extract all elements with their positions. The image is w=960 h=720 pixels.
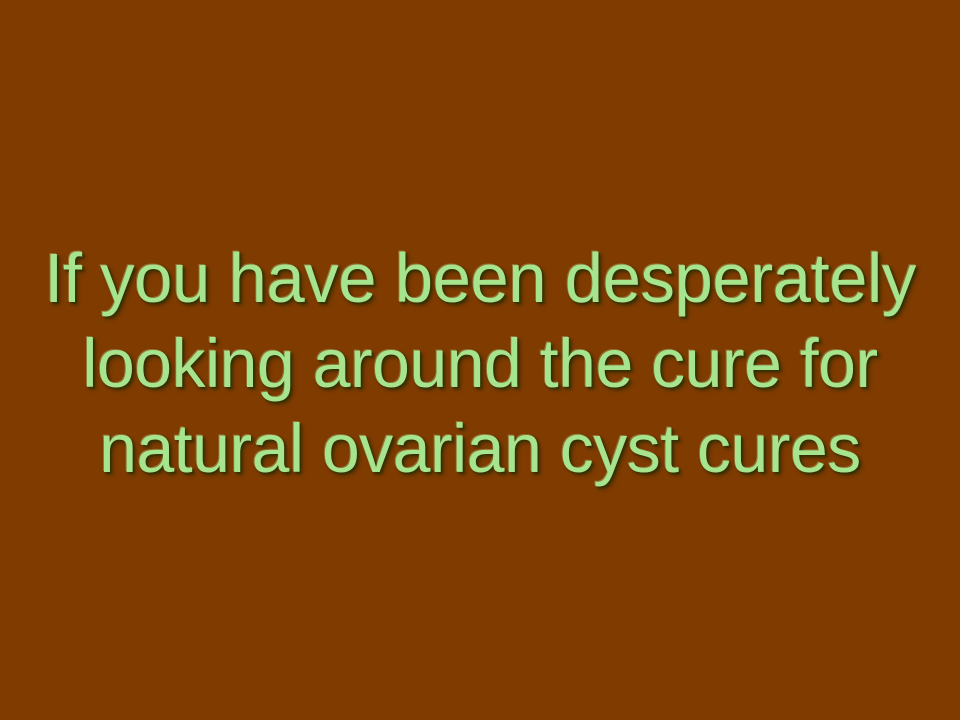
caption-line-1: If you have been desperately <box>7 236 953 321</box>
caption-line-2: looking around the cure for <box>7 321 953 406</box>
video-text-slide: If you have been desperately looking aro… <box>0 0 960 720</box>
caption-block: If you have been desperately looking aro… <box>0 236 960 491</box>
caption-line-3: natural ovarian cyst cures <box>7 406 953 491</box>
